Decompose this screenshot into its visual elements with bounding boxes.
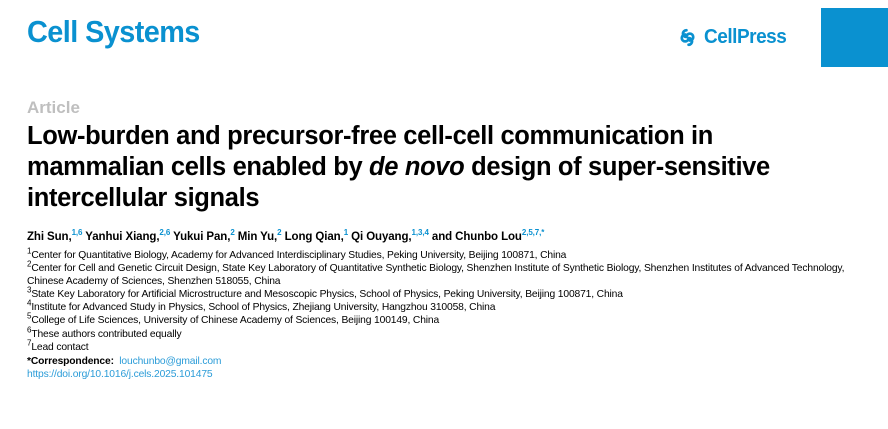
page-title: Low-burden and precursor-free cell-cell … bbox=[27, 121, 787, 214]
author-affiliation-marker: 1,6 bbox=[72, 228, 83, 237]
affiliation-text: Lead contact bbox=[31, 342, 88, 353]
doi-link[interactable]: https://doi.org/10.1016/j.cels.2025.1014… bbox=[27, 369, 212, 380]
author-name: Yukui Pan bbox=[173, 231, 227, 243]
correspondence-line: *Correspondence: louchunbo@gmail.com bbox=[27, 355, 874, 368]
author-name: Qi Ouyang bbox=[351, 231, 408, 243]
affiliation-text: These authors contributed equally bbox=[31, 329, 181, 340]
author-name: Min Yu bbox=[238, 231, 274, 243]
cellpress-swirl-icon bbox=[677, 27, 698, 48]
affiliation-text: Center for Cell and Genetic Circuit Desi… bbox=[27, 263, 844, 287]
affiliation-text: Center for Quantitative Biology, Academy… bbox=[31, 250, 566, 261]
affiliation-text: Institute for Advanced Study in Physics,… bbox=[31, 302, 495, 313]
author-affiliation-marker: 1,3,4 bbox=[412, 228, 429, 237]
author-entry[interactable]: Chunbo Lou2,5,7,* bbox=[455, 231, 544, 243]
author-entry[interactable]: Min Yu,2 bbox=[238, 231, 282, 243]
publisher-logo[interactable]: CellPress bbox=[677, 26, 791, 49]
correspondence-email-link[interactable]: louchunbo@gmail.com bbox=[119, 356, 221, 367]
journal-masthead: Cell Systems CellPress bbox=[0, 0, 888, 75]
affiliation-item: 1Center for Quantitative Biology, Academ… bbox=[27, 249, 874, 262]
author-affiliation-marker: 1 bbox=[344, 228, 348, 237]
article-header-block: Article Low-burden and precursor-free ce… bbox=[27, 98, 874, 381]
affiliation-item: 2Center for Cell and Genetic Circuit Des… bbox=[27, 262, 874, 288]
publisher-name: CellPress bbox=[704, 26, 786, 49]
author-entry[interactable]: Long Qian,1 bbox=[285, 231, 348, 243]
author-name: Long Qian bbox=[285, 231, 341, 243]
author-affiliation-marker: 2,5,7,* bbox=[522, 228, 544, 237]
title-italic-run: de novo bbox=[369, 153, 464, 181]
author-entry[interactable]: Qi Ouyang,1,3,4 bbox=[351, 231, 429, 243]
header-accent-block bbox=[821, 8, 888, 67]
doi-line: https://doi.org/10.1016/j.cels.2025.1014… bbox=[27, 368, 874, 381]
affiliation-text: State Key Laboratory for Artificial Micr… bbox=[31, 289, 623, 300]
author-name: Chunbo Lou bbox=[455, 231, 522, 243]
correspondence-label: *Correspondence: bbox=[27, 356, 114, 367]
author-affiliation-marker: 2 bbox=[230, 228, 234, 237]
affiliation-text: College of Life Sciences, University of … bbox=[31, 315, 439, 326]
affiliation-item: 4Institute for Advanced Study in Physics… bbox=[27, 301, 874, 314]
author-list: Zhi Sun,1,6 Yanhui Xiang,2,6 Yukui Pan,2… bbox=[27, 230, 874, 245]
author-entry[interactable]: Zhi Sun,1,6 bbox=[27, 231, 82, 243]
author-name: Yanhui Xiang bbox=[85, 231, 156, 243]
journal-title[interactable]: Cell Systems bbox=[27, 14, 200, 50]
author-affiliation-marker: 2 bbox=[277, 228, 281, 237]
author-affiliation-marker: 2,6 bbox=[159, 228, 170, 237]
footnote-item: 6These authors contributed equally bbox=[27, 328, 874, 341]
author-entry[interactable]: Yanhui Xiang,2,6 bbox=[85, 231, 170, 243]
affiliation-item: 5College of Life Sciences, University of… bbox=[27, 314, 874, 327]
author-entry[interactable]: Yukui Pan,2 bbox=[173, 231, 235, 243]
footnote-item: 7Lead contact bbox=[27, 341, 874, 354]
article-type-label: Article bbox=[27, 98, 874, 118]
affiliation-list: 1Center for Quantitative Biology, Academ… bbox=[27, 249, 874, 354]
affiliation-item: 3State Key Laboratory for Artificial Mic… bbox=[27, 288, 874, 301]
author-name: Zhi Sun bbox=[27, 231, 68, 243]
